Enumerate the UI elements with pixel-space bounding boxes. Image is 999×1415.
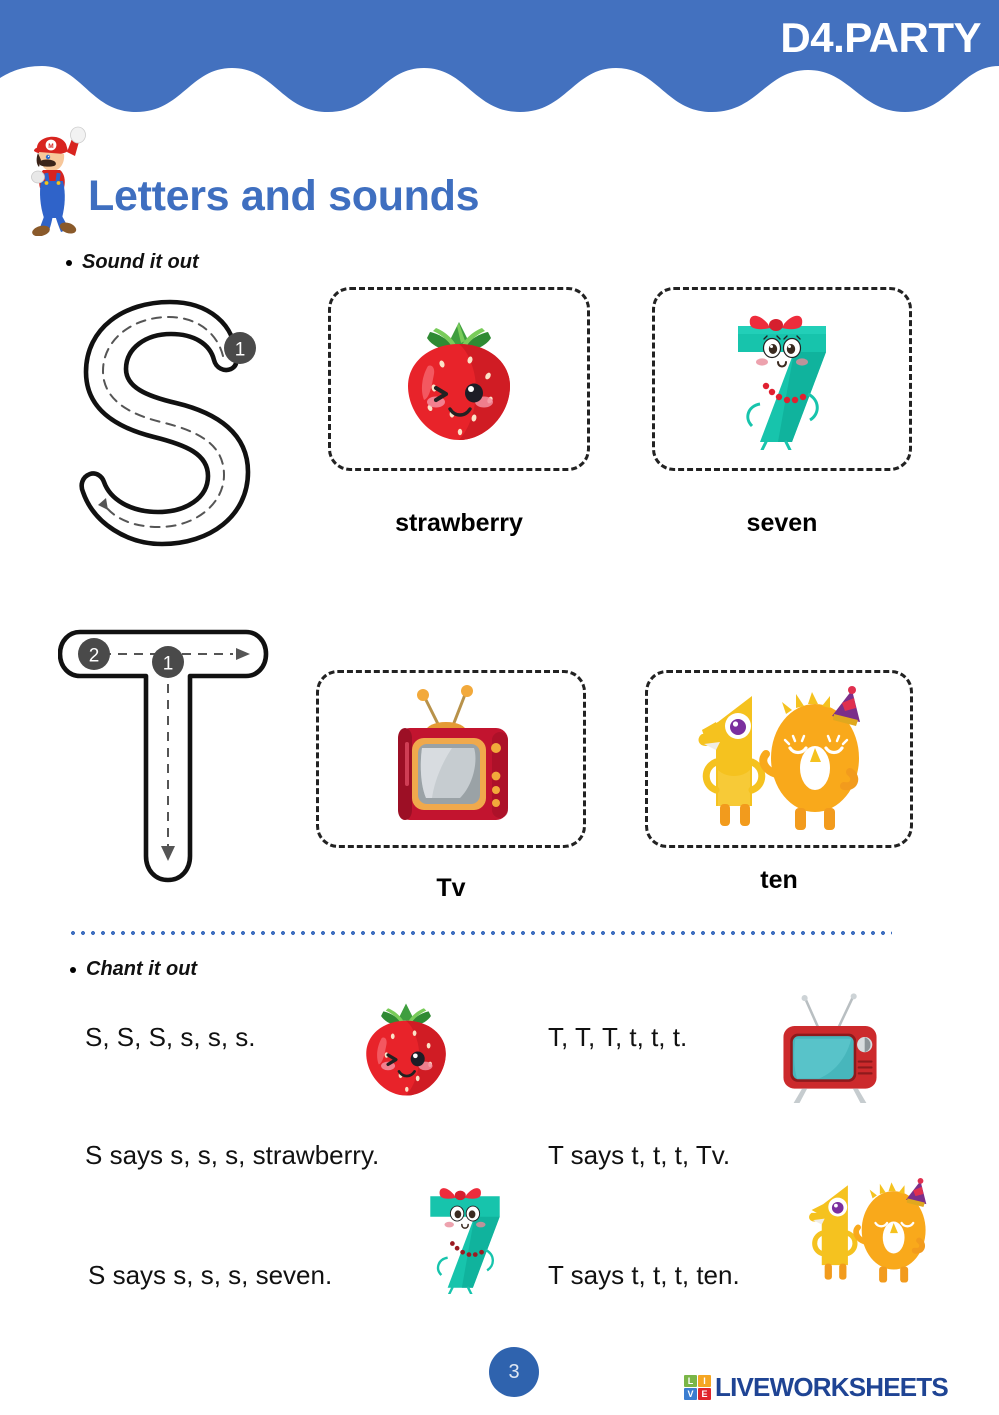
card-frame (652, 287, 912, 471)
picture-card-tv[interactable] (316, 670, 586, 848)
trace-letter-s[interactable]: 1 (58, 286, 308, 581)
chant-line-t-2: T says t, t, t, Tv. (548, 1140, 730, 1171)
bullet-dot-icon (70, 967, 76, 973)
stroke-marker-1: 1 (163, 654, 174, 675)
number-ten-icon (690, 686, 868, 832)
chant-it-out-label: Chant it out (86, 958, 197, 981)
strawberry-icon (400, 314, 518, 444)
television-icon (775, 992, 885, 1104)
sound-it-out-heading: Sound it out (66, 251, 199, 274)
chant-line-t-1: T, T, T, t, t, t. (548, 1022, 687, 1053)
strawberry-icon (360, 993, 452, 1103)
page-number-badge: 3 (489, 1347, 539, 1397)
logo-tile-v: V (684, 1388, 697, 1400)
logo-tiles: L I V E (684, 1375, 711, 1400)
mario-character-icon: M (26, 126, 92, 236)
chant-it-out-heading: Chant it out (70, 958, 197, 981)
number-ten-icon (795, 1178, 940, 1284)
page-title: Letters and sounds (88, 174, 479, 219)
header-banner: D4.PARTY (0, 0, 999, 112)
card-frame (316, 670, 586, 848)
number-seven-icon (415, 1182, 515, 1294)
logo-tile-l: L (684, 1375, 697, 1387)
stroke-marker-1: 1 (235, 340, 246, 361)
card-label-ten: ten (645, 866, 913, 895)
logo-wordmark: LIVEWORKSHEETS (715, 1372, 948, 1403)
liveworksheets-logo[interactable]: L I V E LIVEWORKSHEETS (684, 1372, 948, 1403)
section-divider (68, 930, 892, 936)
page-number: 3 (508, 1361, 519, 1384)
picture-card-ten[interactable] (645, 670, 913, 848)
card-label-seven: seven (652, 509, 912, 538)
svg-text:M: M (48, 143, 53, 150)
trace-letter-t[interactable]: 2 1 (58, 608, 308, 898)
chant-line-s-2: S says s, s, s, strawberry. (85, 1140, 379, 1171)
card-label-tv: Tv (316, 874, 586, 903)
logo-tile-e: E (698, 1388, 711, 1400)
television-icon (382, 684, 520, 834)
card-label-strawberry: strawberry (328, 509, 590, 538)
chant-line-s-3: S says s, s, s, seven. (88, 1260, 332, 1291)
sound-it-out-label: Sound it out (82, 251, 199, 274)
chant-line-s-1: S, S, S, s, s, s. (85, 1022, 256, 1053)
picture-card-strawberry[interactable] (328, 287, 590, 471)
worksheet-page: D4.PARTY M Letters and (0, 0, 999, 1415)
banner-title: D4.PARTY (780, 17, 981, 59)
chant-line-t-3: T says t, t, t, ten. (548, 1260, 740, 1291)
card-frame (328, 287, 590, 471)
number-seven-icon (722, 308, 842, 450)
card-frame (645, 670, 913, 848)
stroke-marker-2: 2 (89, 646, 100, 667)
picture-card-seven[interactable] (652, 287, 912, 471)
logo-tile-i: I (698, 1375, 711, 1387)
bullet-dot-icon (66, 260, 72, 266)
